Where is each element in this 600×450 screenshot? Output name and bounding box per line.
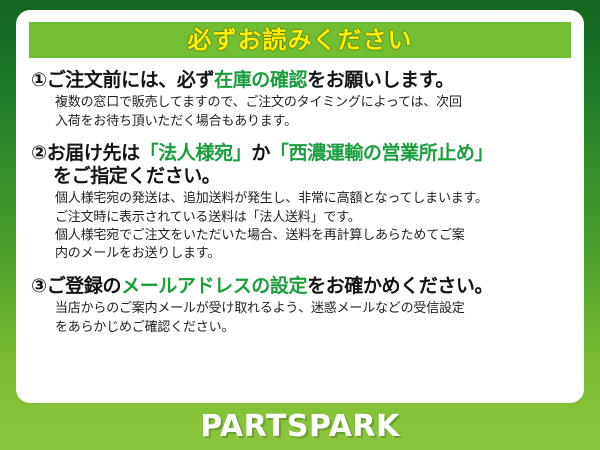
notice-item-2-heading: ②お届け先は「法人様宛」か「西濃運輸の営業所止め」をご指定ください。 <box>31 142 569 187</box>
brand-logo: PARTSPARK <box>200 409 400 444</box>
notice-item-3-heading: ③ご登録のメールアドレスの設定をお確かめください。 <box>31 275 569 297</box>
header-banner: 必ずお読みください <box>29 22 571 58</box>
notice-item-1-marker: ① <box>31 69 47 91</box>
notice-item-3-heading-text-1: ご登録の <box>47 275 121 297</box>
notice-item-1-body: 複数の窓口で販売してますので、ご注文のタイミングによっては、次回 入荷をお待ち頂… <box>31 94 569 131</box>
notice-item-2-marker: ② <box>31 142 47 164</box>
notice-item-2: ②お届け先は「法人様宛」か「西濃運輸の営業所止め」をご指定ください。 個人様宅宛… <box>31 142 569 264</box>
notice-item-2-heading-highlight-2: 「西濃運輸の営業所止め」 <box>270 142 493 164</box>
notice-item-1-heading-text-2: をお願いします。 <box>307 69 454 91</box>
notice-item-2-heading-middle: か <box>251 142 270 164</box>
notice-item-1-heading: ①ご注文前には、必ず在庫の確認をお願いします。 <box>31 69 569 91</box>
notice-item-2-heading-line-2: をご指定ください。 <box>31 165 569 187</box>
notice-item-3-body: 当店からのご案内メールが受け取れるよう、迷惑メールなどの受信設定 をあらかじめご… <box>31 300 569 337</box>
notice-item-3-heading-text-2: をお確かめください。 <box>307 275 493 297</box>
notice-item-1-heading-highlight: 在庫の確認 <box>214 69 307 91</box>
notice-item-3-heading-highlight: メールアドレスの設定 <box>121 275 307 297</box>
notice-item-3-marker: ③ <box>31 275 47 297</box>
notice-item-2-body: 個人様宅宛の発送は、追加送料が発生し、非常に高額となってしまいます。 ご注文時に… <box>31 190 569 264</box>
page-title: 必ずお読みください <box>188 28 413 52</box>
footer-bar: PARTSPARK <box>0 403 600 450</box>
notice-item-list: ①ご注文前には、必ず在庫の確認をお願いします。 複数の窓口で販売してますので、ご… <box>29 69 571 337</box>
notice-item-2-heading-highlight-1: 「法人様宛」 <box>140 142 252 164</box>
notice-item-1-heading-text-1: ご注文前には、必ず <box>47 69 214 91</box>
notice-item-3: ③ご登録のメールアドレスの設定をお確かめください。 当店からのご案内メールが受け… <box>31 275 569 337</box>
notice-panel: 必ずお読みください ①ご注文前には、必ず在庫の確認をお願いします。 複数の窓口で… <box>16 10 584 403</box>
notice-item-1: ①ご注文前には、必ず在庫の確認をお願いします。 複数の窓口で販売してますので、ご… <box>31 69 569 131</box>
notice-item-2-heading-text-1: お届け先は <box>47 142 140 164</box>
notice-card: 必ずお読みください ①ご注文前には、必ず在庫の確認をお願いします。 複数の窓口で… <box>0 0 600 450</box>
